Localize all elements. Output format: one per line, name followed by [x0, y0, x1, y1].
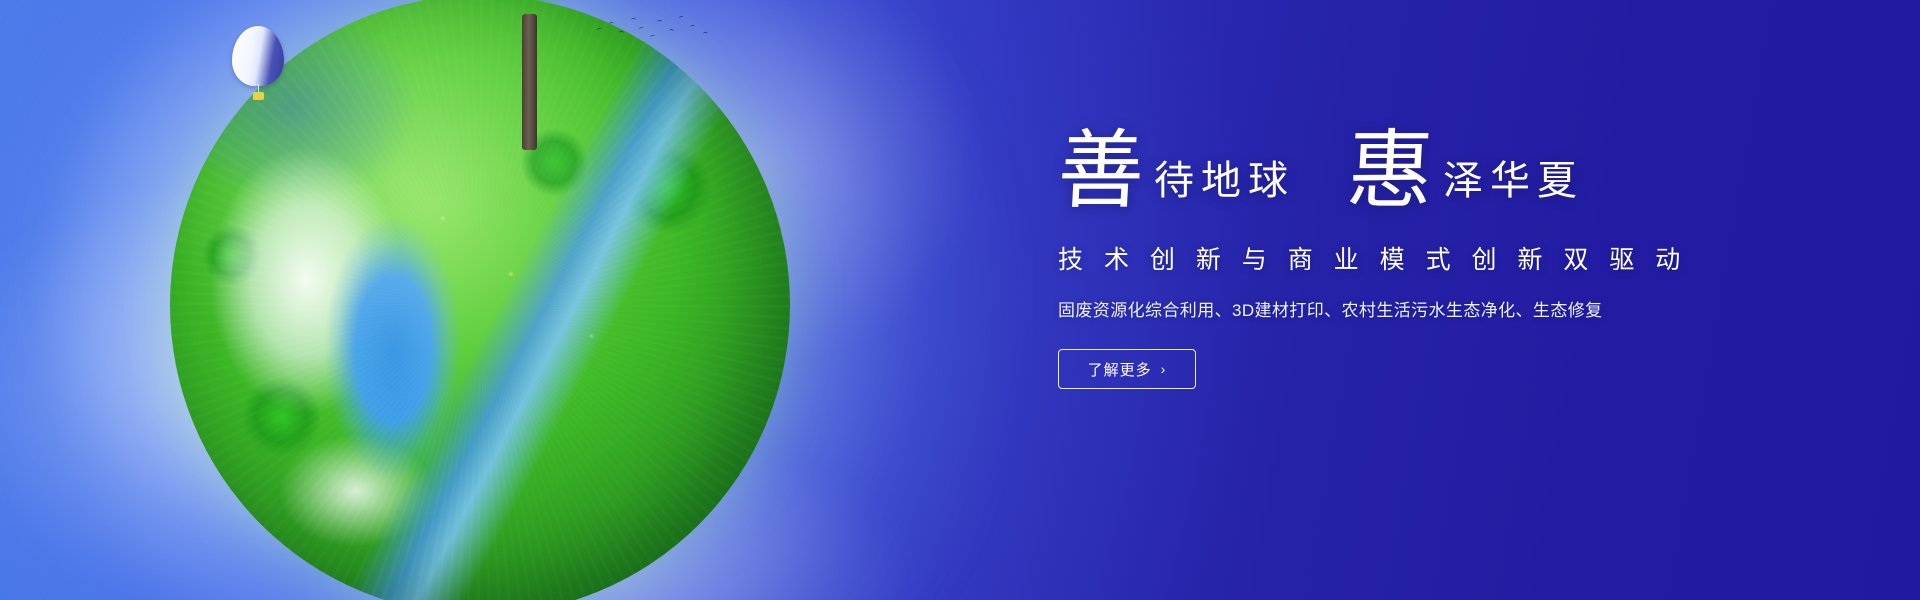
hot-air-balloon-icon [232, 26, 284, 104]
headline-lead-char-1: 善 [1056, 128, 1147, 214]
balloon-basket [253, 92, 264, 100]
bird-icon [679, 15, 685, 20]
page-title: 善 待地球 惠 泽华夏 [1058, 128, 1818, 214]
bird-icon [657, 20, 662, 24]
bird-icon [669, 29, 674, 34]
bird-icon [597, 27, 603, 32]
bird-flock-icon [595, 10, 725, 50]
headline-rest-2: 泽华夏 [1443, 161, 1584, 201]
bird-icon [631, 18, 636, 23]
hero-description: 固废资源化综合利用、3D建材打印、农村生活污水生态净化、生态修复 [1058, 296, 1818, 321]
balloon-envelope [232, 26, 284, 86]
globe-illustration [140, 0, 840, 600]
headline-rest-1: 待地球 [1154, 161, 1295, 201]
bird-icon [639, 26, 645, 31]
learn-more-button[interactable]: 了解更多 › [1058, 349, 1196, 389]
learn-more-label: 了解更多 [1088, 359, 1152, 380]
chevron-right-icon: › [1161, 362, 1167, 376]
tree-trunk [522, 14, 537, 150]
bird-icon [650, 35, 655, 40]
headline-lead-char-2: 惠 [1345, 128, 1436, 214]
hero-copy: 善 待地球 惠 泽华夏 技 术 创 新 与 商 业 模 式 创 新 双 驱 动 … [1058, 128, 1818, 389]
bird-icon [690, 25, 695, 30]
bird-icon [703, 32, 708, 36]
bird-icon [619, 31, 624, 35]
tree-icon [440, 0, 620, 146]
bird-icon [609, 22, 614, 27]
hero-banner: 善 待地球 惠 泽华夏 技 术 创 新 与 商 业 模 式 创 新 双 驱 动 … [0, 0, 1920, 600]
hero-subtitle: 技 术 创 新 与 商 业 模 式 创 新 双 驱 动 [1058, 240, 1818, 276]
